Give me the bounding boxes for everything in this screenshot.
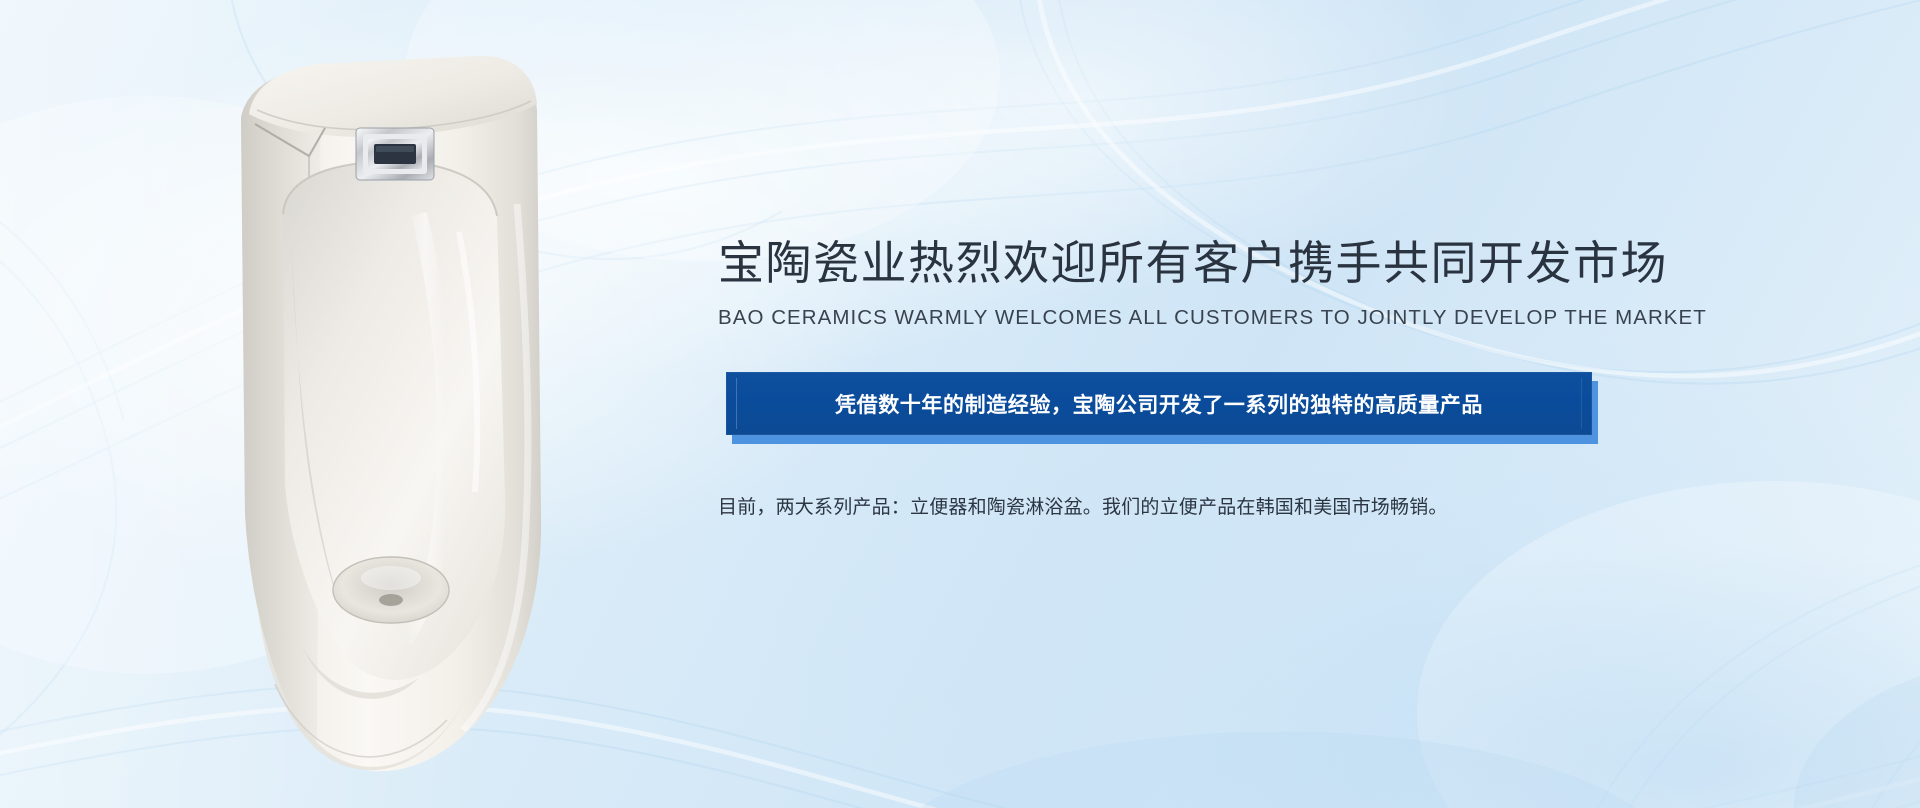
banner-description: 目前，两大系列产品：立便器和陶瓷淋浴盆。我们的立便产品在韩国和美国市场畅销。 [718,492,1618,519]
product-image-urinal [205,44,565,774]
highlight-ribbon: 凭借数十年的制造经验，宝陶公司开发了一系列的独特的高质量产品 [718,372,1598,444]
page-title: 宝陶瓷业热烈欢迎所有客户携手共同开发市场 [718,236,1618,290]
drain-plate [333,557,449,623]
promo-banner: 宝陶瓷业热烈欢迎所有客户携手共同开发市场 BAO CERAMICS WARMLY… [0,0,1920,808]
ribbon-bar: 凭借数十年的制造经验，宝陶公司开发了一系列的独特的高质量产品 [726,372,1592,435]
banner-copy: 宝陶瓷业热烈欢迎所有客户携手共同开发市场 BAO CERAMICS WARMLY… [718,236,1618,519]
ribbon-text: 凭借数十年的制造经验，宝陶公司开发了一系列的独特的高质量产品 [835,389,1483,419]
page-subtitle: BAO CERAMICS WARMLY WELCOMES ALL CUSTOME… [718,306,1618,330]
sensor-window-icon [356,128,434,180]
